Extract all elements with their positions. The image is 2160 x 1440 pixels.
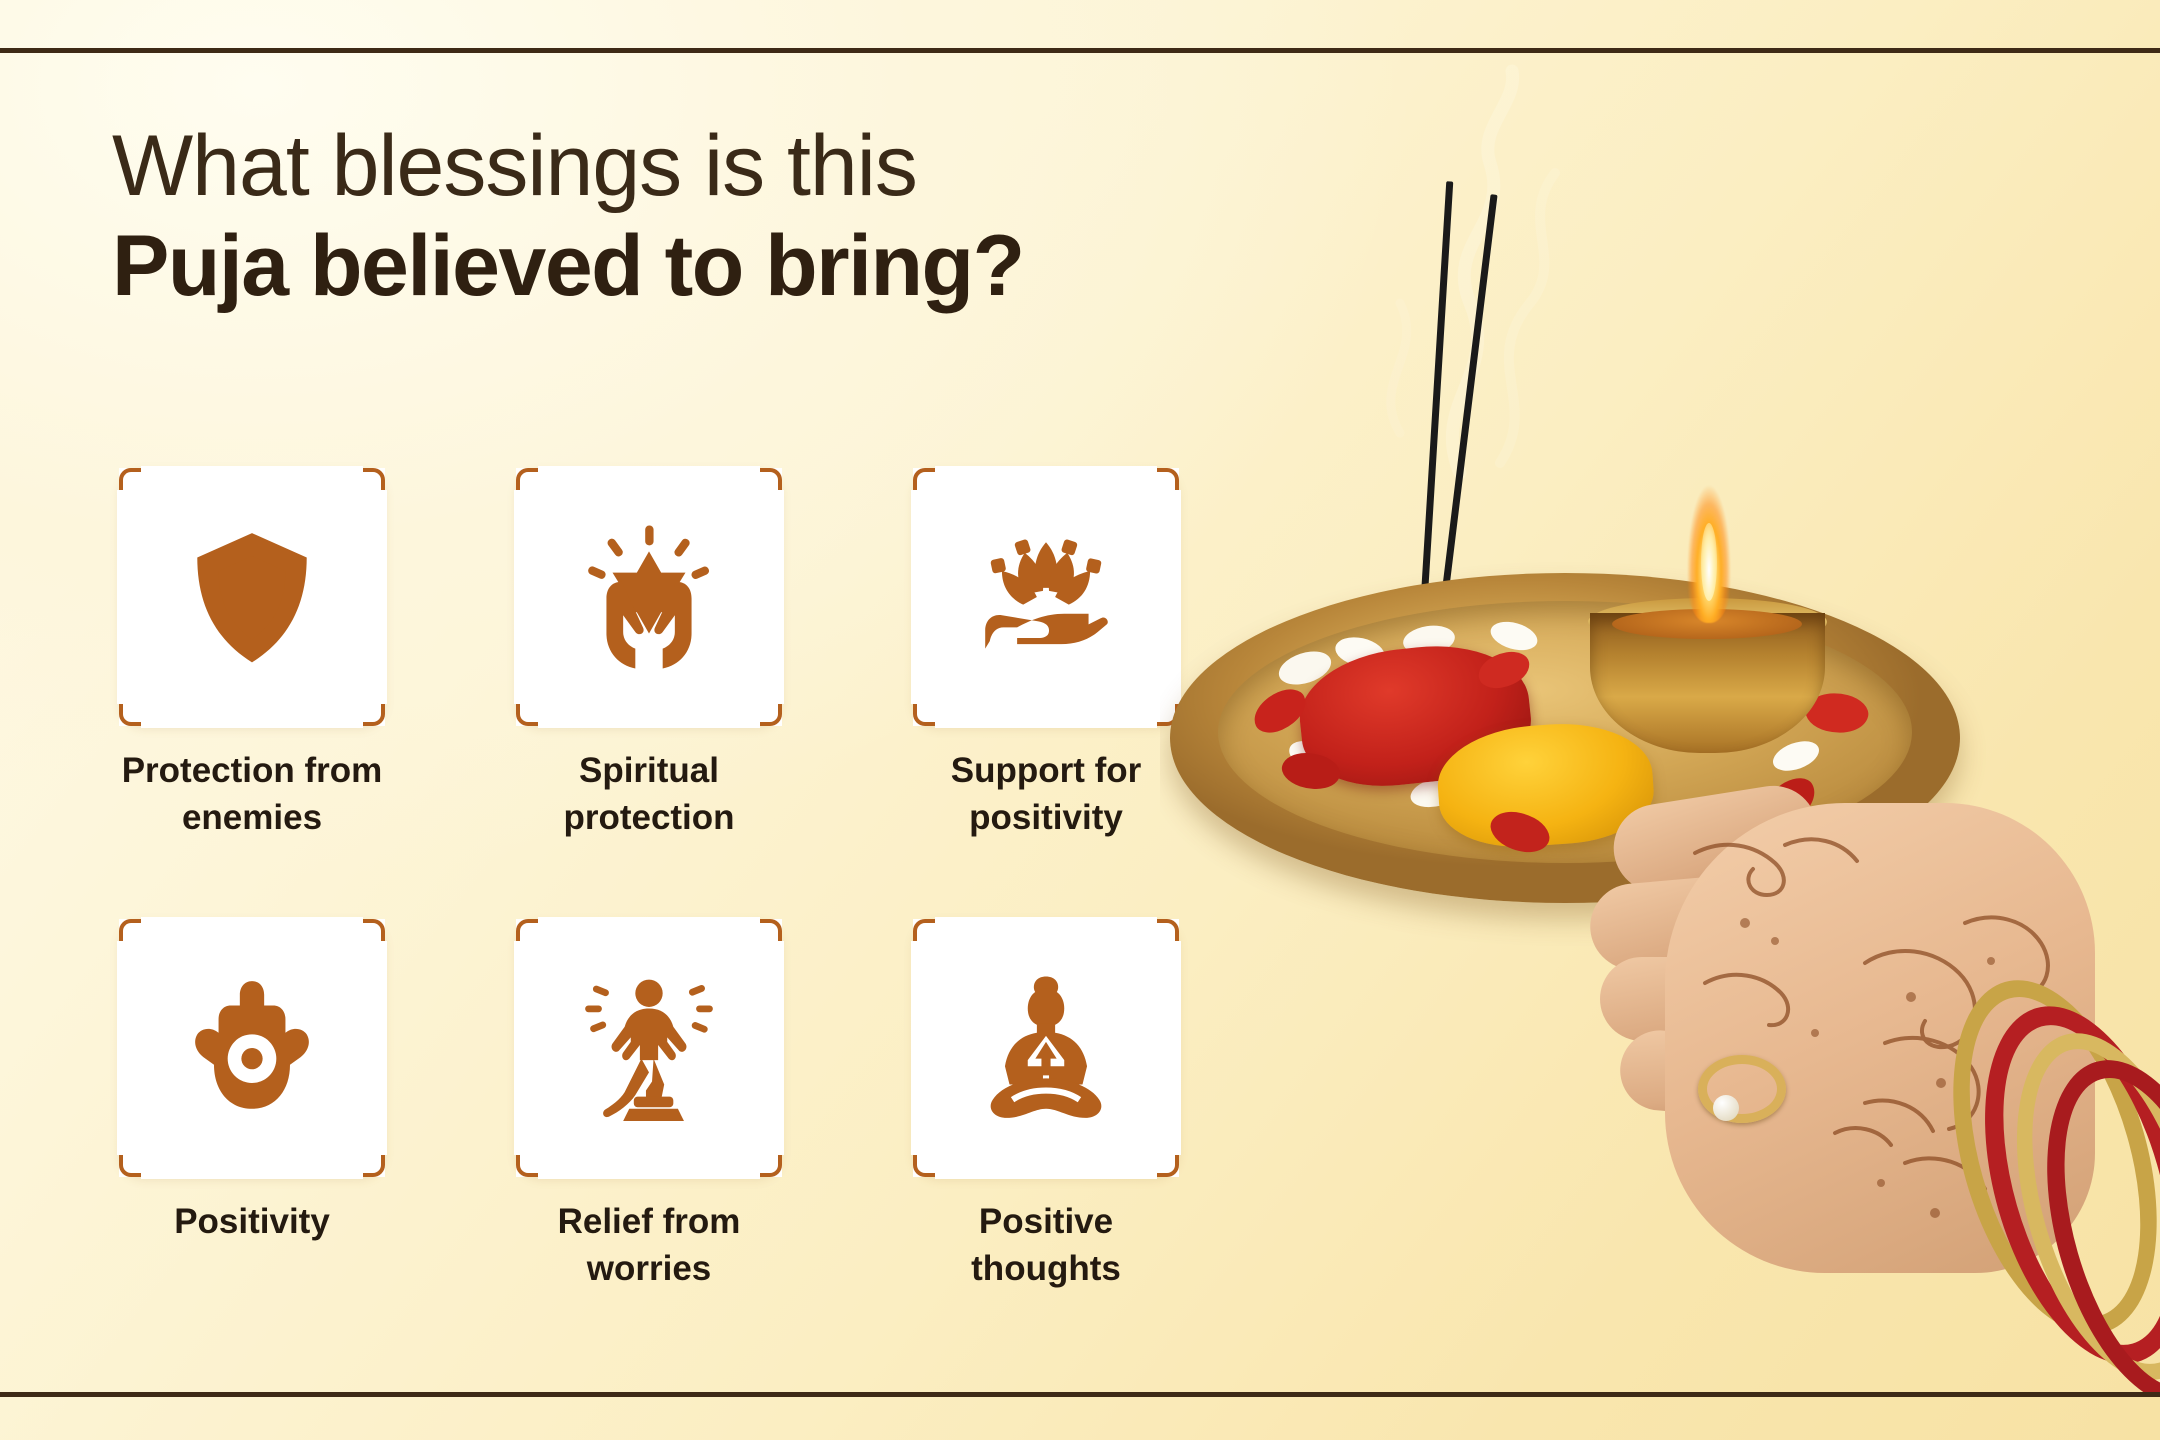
henna-hand	[1415, 743, 2095, 1383]
benefit-label: Positive thoughts	[911, 1199, 1181, 1292]
benefit-label: Support for positivity	[911, 748, 1181, 841]
person-celebrating-icon	[573, 972, 725, 1124]
shield-icon	[176, 521, 328, 673]
finger-ring	[1698, 1055, 1786, 1123]
puja-thali-photo	[1160, 53, 2160, 1392]
benefit-icon-tile	[516, 919, 782, 1177]
benefit-icon-tile	[516, 468, 782, 726]
benefit-item[interactable]: Support for positivity	[906, 468, 1186, 841]
benefit-item[interactable]: Protection from enemies	[112, 468, 392, 841]
benefit-item[interactable]: Relief from worries	[509, 919, 789, 1292]
benefit-label: Relief from worries	[514, 1199, 784, 1292]
hamsa-hand-icon	[176, 972, 328, 1124]
benefit-icon-tile	[913, 468, 1179, 726]
meditating-person-icon	[970, 972, 1122, 1124]
ring-stone	[1713, 1095, 1739, 1121]
infographic-canvas: What blessings is this Puja believed to …	[0, 0, 2160, 1440]
diya-flame-core	[1701, 523, 1717, 601]
benefit-icon-tile	[119, 919, 385, 1177]
benefit-icon-tile	[119, 468, 385, 726]
hands-with-star-icon	[573, 521, 725, 673]
benefit-label: Positivity	[174, 1199, 330, 1246]
benefits-grid: Protection from enemies	[112, 468, 1186, 1292]
benefit-label: Spiritual protection	[514, 748, 784, 841]
bottom-divider-rule	[0, 1392, 2160, 1397]
benefit-item[interactable]: Spiritual protection	[509, 468, 789, 841]
incense-smoke	[1250, 53, 1670, 483]
benefit-item[interactable]: Positive thoughts	[906, 919, 1186, 1292]
benefit-icon-tile	[913, 919, 1179, 1177]
benefit-label: Protection from enemies	[117, 748, 387, 841]
hand-with-lotus-icon	[970, 521, 1122, 673]
benefit-item[interactable]: Positivity	[112, 919, 392, 1292]
